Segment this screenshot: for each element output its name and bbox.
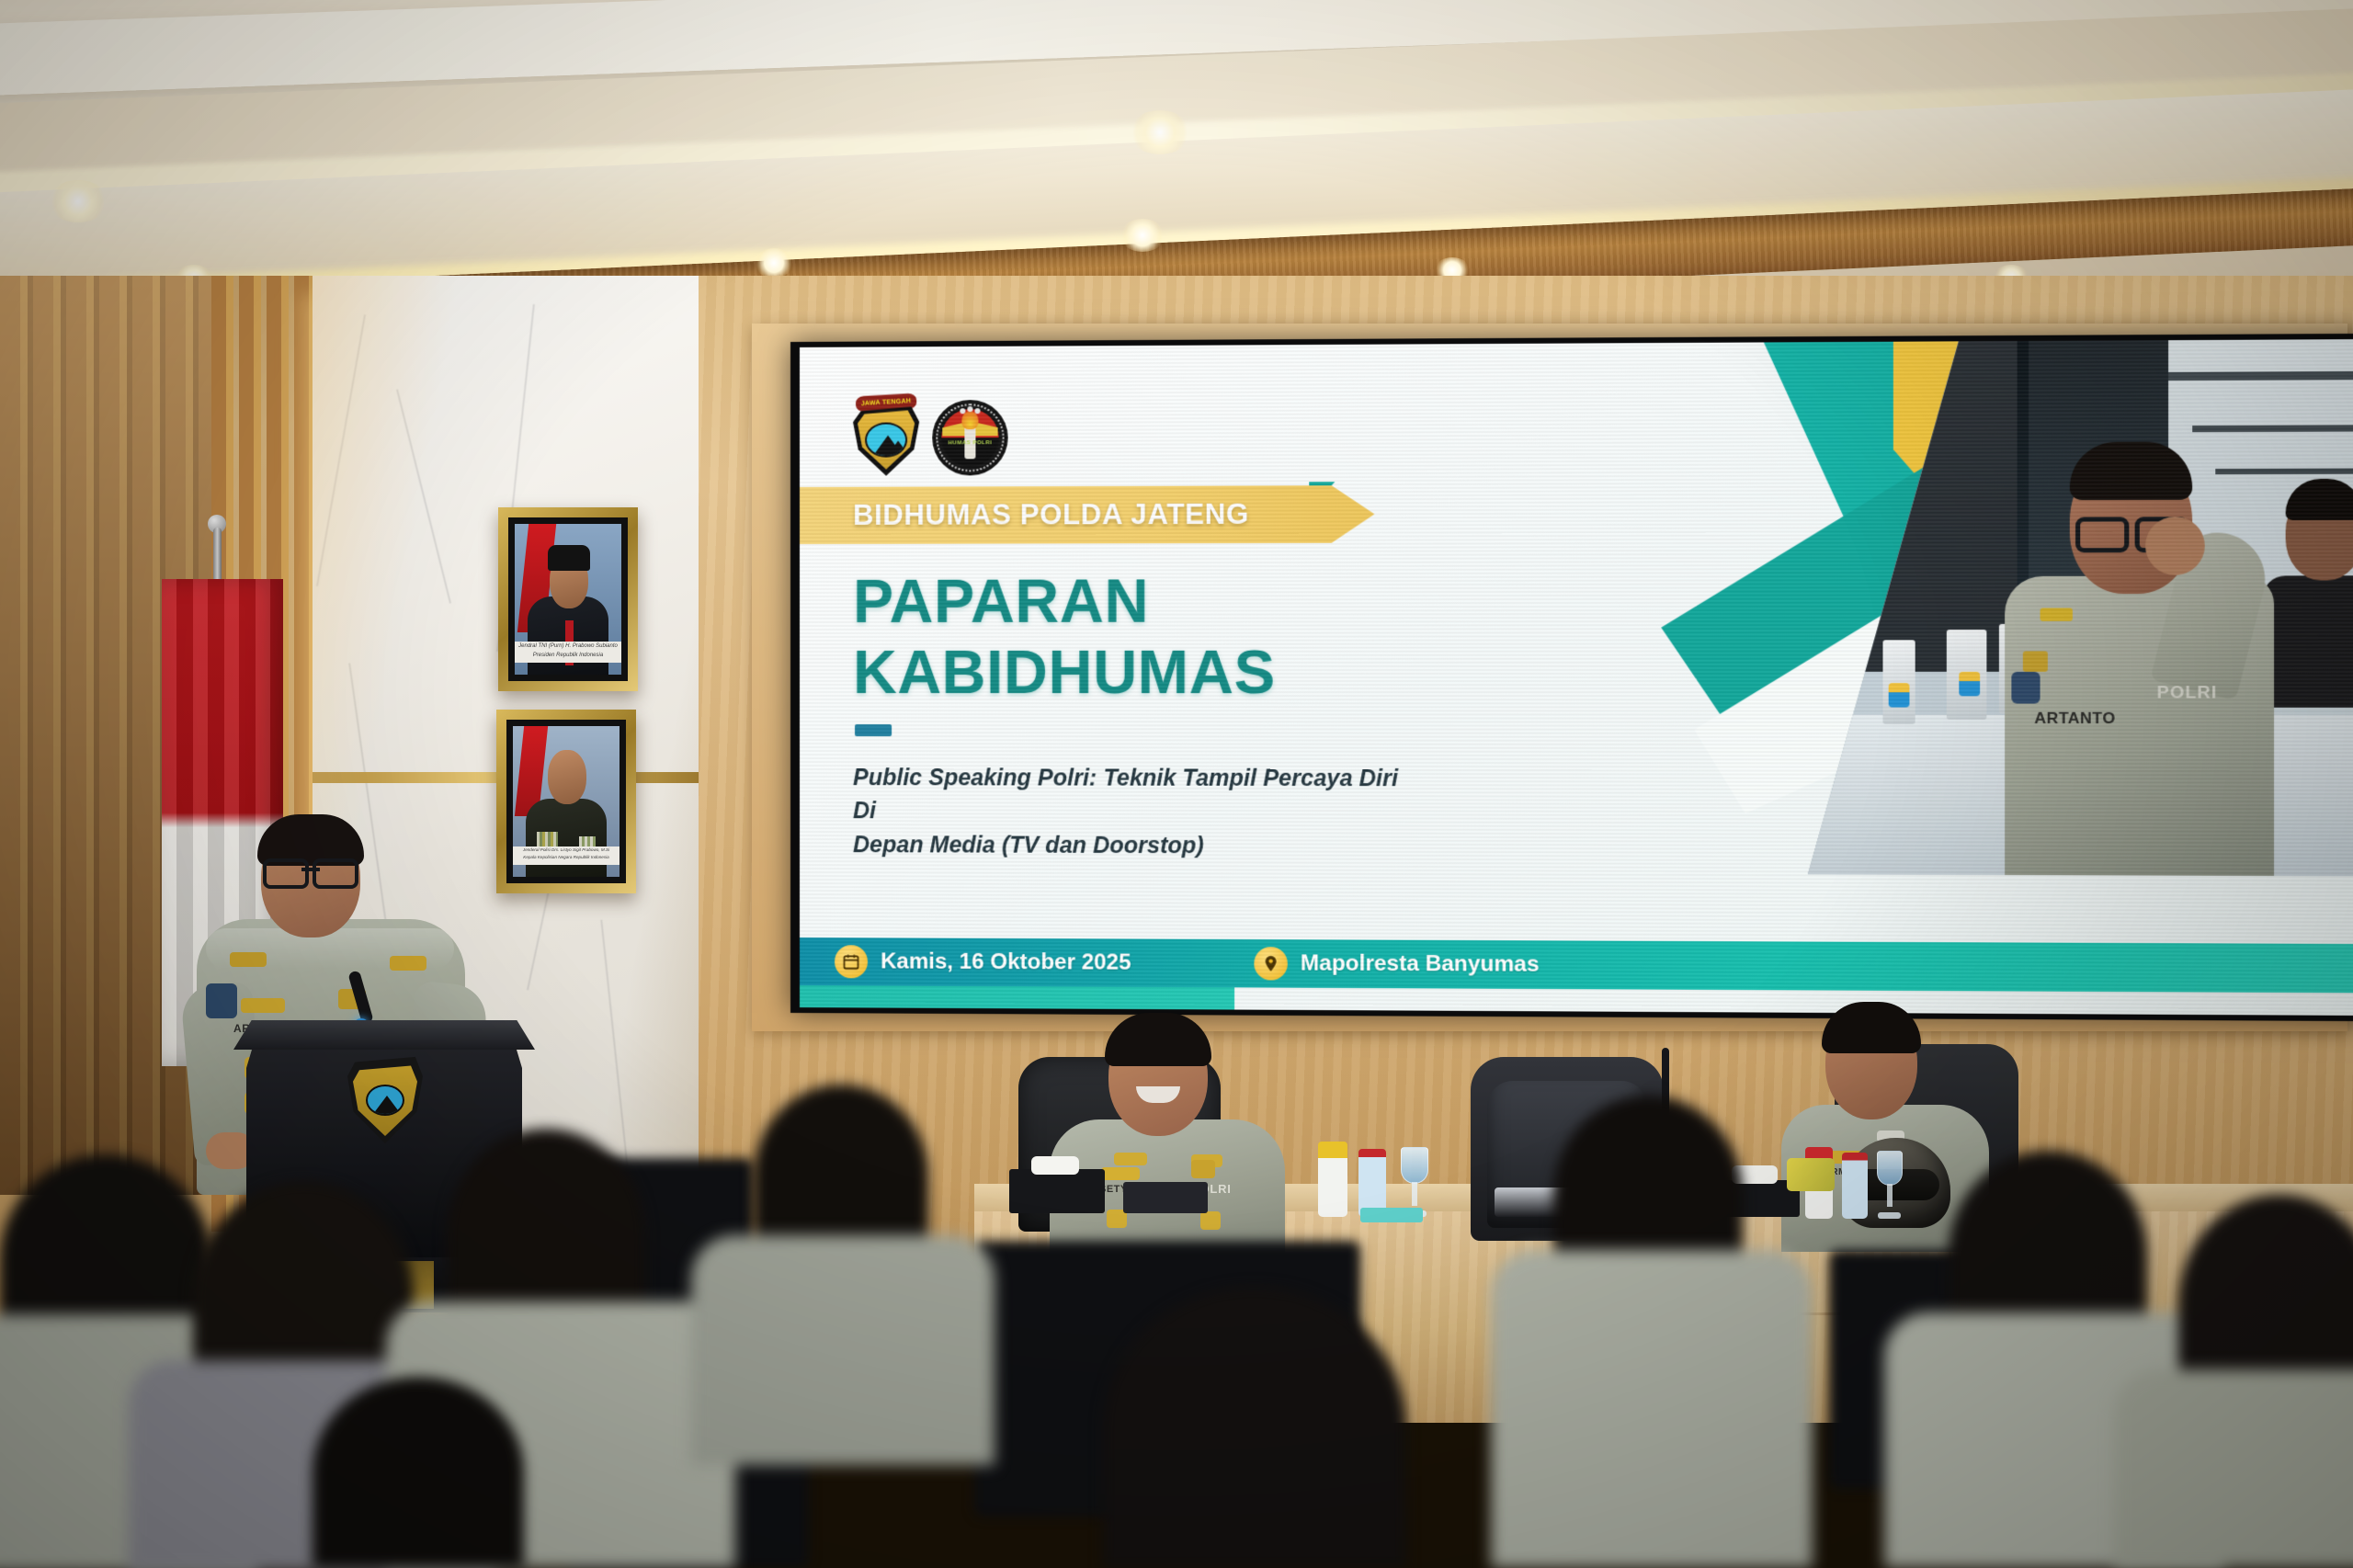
info-bar-lower-strip [800,985,1234,1009]
snack-bag-right [1787,1158,1835,1191]
decor-stripe-band [1309,479,2353,1017]
headline-line-2: KABIDHUMAS [853,636,1276,707]
podium-lectern-top [233,1020,535,1050]
polda-jateng-emblem [347,1055,423,1143]
organization-banner: BIDHUMAS POLDA JATENG [800,485,1374,544]
water-glass-2[interactable] [1875,1151,1904,1219]
humas-logo-text: HUMAS POLRI [932,440,1007,446]
police-chief-portrait: Jenderal Polisi Drs. Listyo Sigit Prabow… [496,710,636,893]
presentation-slide: ARTANTO POLRI [800,339,2353,1016]
audience-body-4 [691,1235,995,1465]
president-portrait-caption-1: Jendral TNI (Purn) H. Prabowo Subianto [515,642,621,651]
center-officer-chest [1191,1160,1215,1178]
audience-body-6 [1491,1250,1813,1568]
police-chief-caption-1: Jenderal Polisi Drs. Listyo Sigit Prabow… [513,846,620,854]
slide-subtitle: Public Speaking Polri: Teknik Tampil Per… [853,761,1410,863]
organization-banner-label: BIDHUMAS POLDA JATENG [853,498,1249,532]
speaker-rank-insignia [230,952,267,967]
water-bottle-1[interactable] [1358,1149,1386,1217]
humas-polri-logo: HUMAS POLRI [932,400,1007,476]
water-glass-1[interactable] [1399,1147,1430,1217]
info-location-label: Mapolresta Banyumas [1301,950,1540,977]
downlight-4 [1120,219,1165,252]
president-portrait: Jendral TNI (Purn) H. Prabowo Subianto P… [498,507,638,691]
president-portrait-caption-2: Presiden Republik Indonesia [515,651,621,660]
info-date-label: Kamis, 16 Oktober 2025 [881,949,1131,975]
audience-head-9 [313,1377,524,1568]
headline-line-1: PAPARAN [853,565,1276,636]
info-location: Mapolresta Banyumas [1254,947,1539,982]
center-officer-rank [1114,1153,1147,1165]
tissue-box-left [1009,1169,1105,1213]
speaker-arm-patch [206,983,237,1018]
calendar-icon [835,945,868,978]
slide-headline: PAPARAN KABIDHUMAS [853,565,1276,707]
audience-head-5 [1103,1287,1406,1568]
sanitizer-bottle-1[interactable] [1318,1142,1347,1217]
speaker-wing-badge [241,998,285,1013]
speaker-glasses [263,858,358,882]
tissue-sheet-left [1031,1156,1079,1175]
slide-logos: JAWA TENGAH HUMAS POLRI [853,394,1008,476]
headline-underline-mark [855,724,892,736]
info-date: Kamis, 16 Oktober 2025 [835,945,1131,980]
subtitle-line-1: Public Speaking Polri: Teknik Tampil Per… [853,761,1410,829]
downlight-3 [754,248,794,278]
led-video-wall[interactable]: ARTANTO POLRI [790,334,2353,1022]
police-chief-caption-2: Kepala Kepolisian Negara Republik Indone… [513,854,620,861]
downlight-5 [1129,110,1191,154]
slide-info-bar: Kamis, 16 Oktober 2025 Mapolresta Banyum… [800,937,2353,993]
conference-room-scene: ARTANTO POLRI [0,0,2353,1568]
center-officer-wing [1101,1167,1140,1180]
speaker-shoulder-board [390,956,426,971]
water-bottle-2[interactable] [1842,1153,1868,1219]
center-officer-pocket-2 [1200,1211,1221,1230]
control-box-left [1123,1182,1208,1213]
downlight-1 [48,180,108,222]
napkin-left [1360,1208,1423,1222]
location-pin-icon [1254,947,1288,980]
audience-body-8 [2114,1369,2353,1568]
polda-jateng-logo: JAWA TENGAH [853,394,919,475]
subtitle-line-2: Depan Media (TV dan Doorstop) [853,828,1410,863]
